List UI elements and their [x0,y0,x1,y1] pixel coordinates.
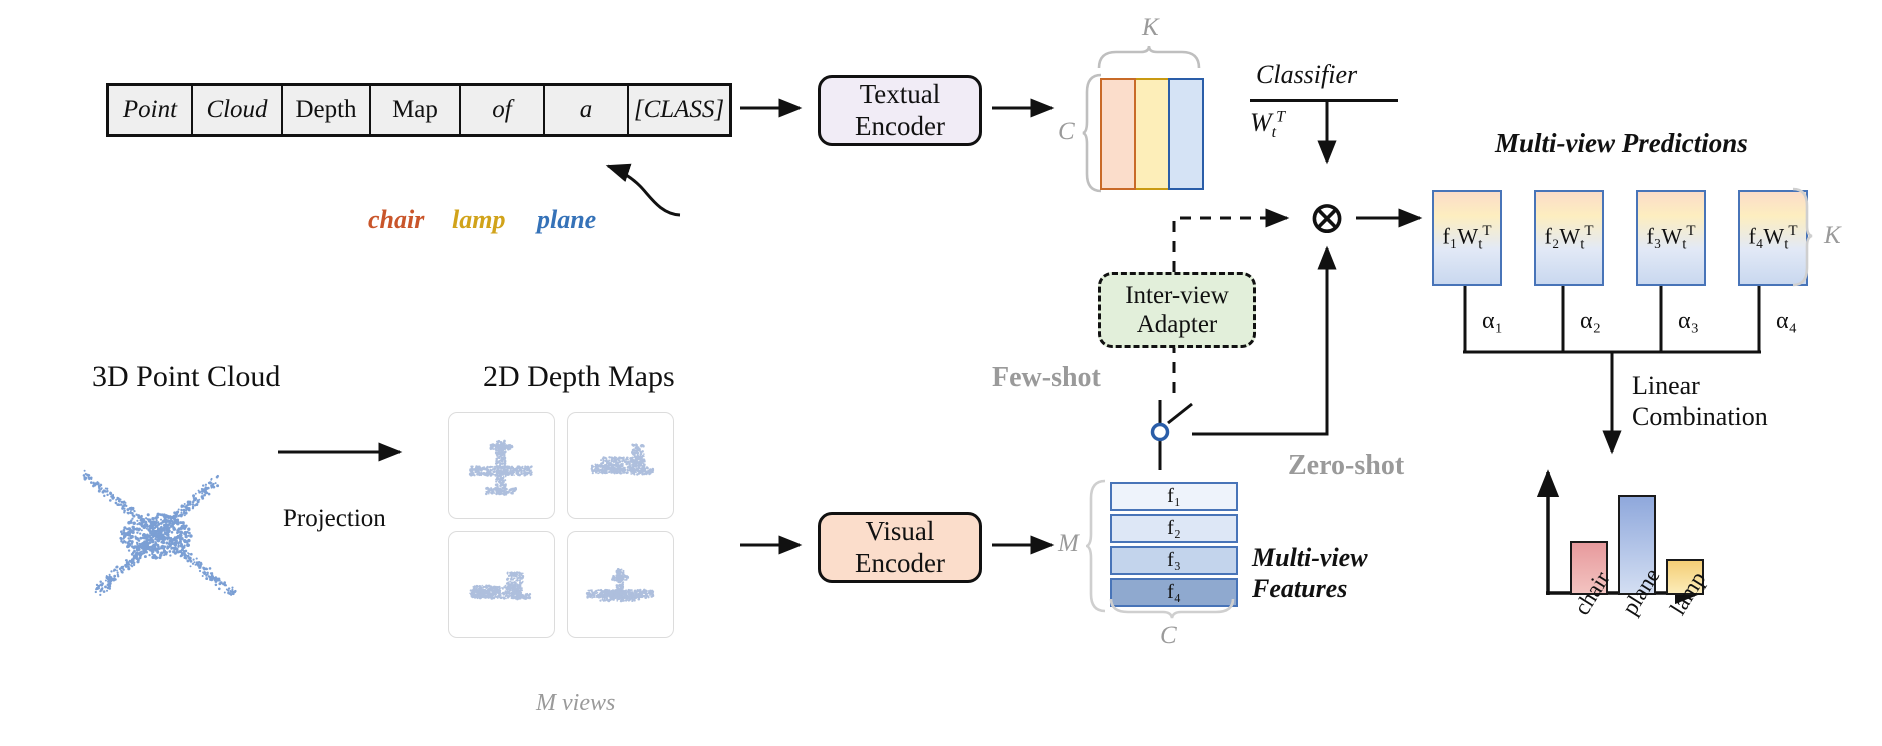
class-word-chair[interactable]: chair [368,205,424,235]
alpha-2: α₂ [1580,308,1601,335]
visual-encoder-line1: Visual [855,516,945,548]
textual-encoder-line2: Encoder [855,111,945,143]
alpha-1: α₁ [1482,308,1503,335]
depth-map-thumb-2[interactable] [567,412,674,519]
features-caption: Multi-view Features [1252,542,1368,604]
classifier-column-chair [1100,78,1136,190]
features-brace-m-label: M [1058,530,1079,558]
prediction-box-row: f₁WtT f₂WtT f₃WtT f₄WtT [1432,190,1808,286]
point-cloud-visual [70,440,270,620]
features-caption-line2: Features [1252,573,1368,604]
prediction-label-2: f₂WtT [1544,223,1593,254]
predictions-title: Multi-view Predictions [1495,128,1748,159]
prompt-token-5[interactable]: a [545,86,629,134]
feature-row-1[interactable]: f₁ [1110,482,1238,511]
prompt-token-row: Point Cloud Depth Map of a [CLASS] [106,83,732,137]
brace-top-k [1096,44,1206,70]
prediction-box-1[interactable]: f₁WtT [1432,190,1502,286]
features-caption-line1: Multi-view [1252,542,1368,573]
prediction-box-2[interactable]: f₂WtT [1534,190,1604,286]
class-word-plane[interactable]: plane [537,205,596,235]
brace-left-m [1086,478,1108,614]
zero-shot-label: Zero-shot [1288,450,1404,482]
prompt-token-class[interactable]: [CLASS] [629,86,729,134]
point-cloud-title: 3D Point Cloud [92,360,280,394]
views-caption: M views [536,690,615,717]
classifier-divider [1250,99,1398,102]
feature-row-3[interactable]: f₃ [1110,546,1238,575]
textual-encoder-line1: Textual [855,79,945,111]
classifier-column-lamp [1136,78,1168,190]
visual-encoder-box[interactable]: Visual Encoder [818,512,982,583]
few-shot-label: Few-shot [992,362,1101,394]
depth-map-thumb-1[interactable] [448,412,555,519]
brace-right-k [1790,186,1814,288]
classifier-formula: WtT [1250,108,1285,142]
classifier-matrix [1100,78,1204,186]
adapter-line2: Adapter [1125,310,1229,340]
feature-stack: f₁ f₂ f₃ f₄ [1110,482,1238,610]
alpha-3: α₃ [1678,308,1699,335]
prompt-token-3[interactable]: Map [371,86,461,134]
textual-encoder-box[interactable]: Textual Encoder [818,75,982,146]
prediction-label-1: f₁WtT [1442,223,1491,254]
prompt-token-0[interactable]: Point [109,86,193,134]
prediction-box-3[interactable]: f₃WtT [1636,190,1706,286]
classifier-brace-left-label: C [1058,118,1075,146]
features-brace-c-label: C [1160,622,1177,650]
depth-map-grid [448,412,672,636]
classifier-brace-top-label: K [1142,14,1159,42]
visual-encoder-line2: Encoder [855,548,945,580]
linear-combination-label: Linear Combination [1632,370,1768,432]
prompt-token-2[interactable]: Depth [283,86,371,134]
brace-bottom-c [1108,598,1238,620]
prompt-token-4[interactable]: of [461,86,545,134]
linear-combination-line1: Linear [1632,370,1768,401]
feature-row-2[interactable]: f₂ [1110,514,1238,543]
alpha-4: α₄ [1776,308,1797,335]
inter-view-adapter-box[interactable]: Inter-view Adapter [1098,272,1256,348]
projection-label: Projection [283,505,386,533]
classifier-label: Classifier [1256,60,1357,90]
prediction-label-3: f₃WtT [1646,223,1695,254]
depth-maps-title: 2D Depth Maps [483,360,675,394]
class-word-lamp[interactable]: lamp [452,205,505,235]
linear-combination-line2: Combination [1632,401,1768,432]
adapter-line1: Inter-view [1125,281,1229,311]
classifier-column-plane [1168,78,1204,190]
prompt-token-1[interactable]: Cloud [193,86,283,134]
depth-map-thumb-4[interactable] [567,531,674,638]
depth-map-thumb-3[interactable] [448,531,555,638]
tensor-product-icon: ⊗ [1303,194,1351,242]
predictions-brace-k-label: K [1824,222,1841,250]
